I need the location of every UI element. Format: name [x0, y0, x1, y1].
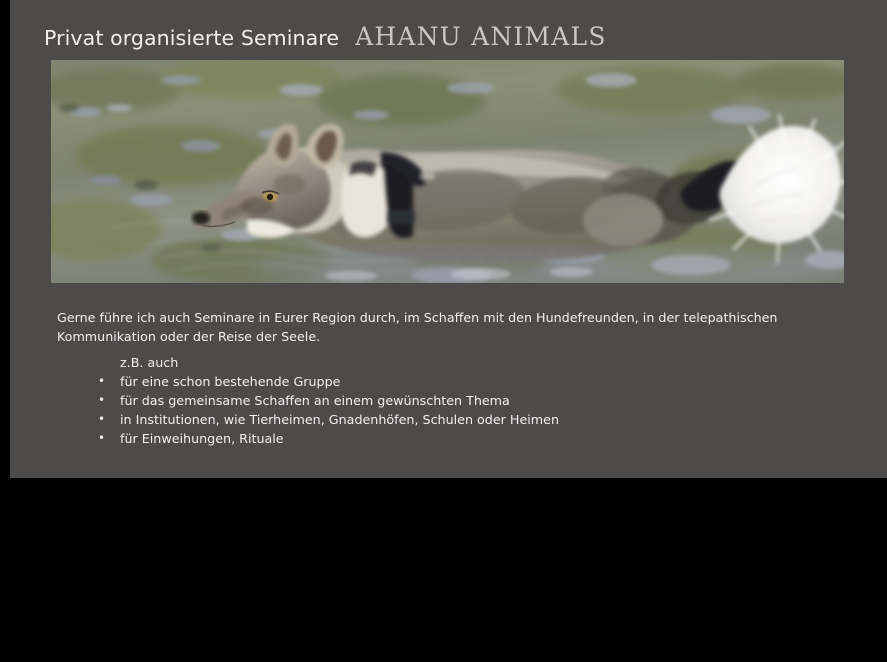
intro-paragraph: Gerne führe ich auch Seminare in Eurer R… — [57, 308, 817, 346]
list-item: • für das gemeinsame Schaffen an einem g… — [98, 391, 798, 410]
bullet-icon: • — [98, 391, 110, 410]
list-item: • für eine schon bestehende Gruppe — [98, 372, 798, 391]
brand-wordmark: AHANU ANIMALS — [355, 22, 607, 51]
list-item: • für Einweihungen, Rituale — [98, 429, 798, 448]
list-item-label: für Einweihungen, Rituale — [120, 431, 284, 446]
seminar-options-block: z.B. auch • für eine schon bestehende Gr… — [98, 353, 798, 448]
list-item-label: für eine schon bestehende Gruppe — [120, 374, 340, 389]
list-item-label: in Institutionen, wie Tierheimen, Gnaden… — [120, 412, 559, 427]
wolfdog-photo-canvas — [51, 60, 844, 283]
page-root: Privat organisierte Seminare AHANU ANIMA… — [0, 0, 887, 662]
page-title: Privat organisierte Seminare — [44, 26, 339, 50]
list-item-label: für das gemeinsame Schaffen an einem gew… — [120, 393, 510, 408]
seminar-options-list: • für eine schon bestehende Gruppe • für… — [98, 372, 798, 448]
list-lead-label: z.B. auch — [120, 353, 798, 372]
bullet-icon: • — [98, 410, 110, 429]
bullet-icon: • — [98, 429, 110, 448]
bullet-icon: • — [98, 372, 110, 391]
page-header: Privat organisierte Seminare AHANU ANIMA… — [44, 22, 864, 56]
wolfdog-in-water-photo — [51, 60, 844, 283]
content-panel: Privat organisierte Seminare AHANU ANIMA… — [10, 0, 887, 478]
list-item: • in Institutionen, wie Tierheimen, Gnad… — [98, 410, 798, 429]
